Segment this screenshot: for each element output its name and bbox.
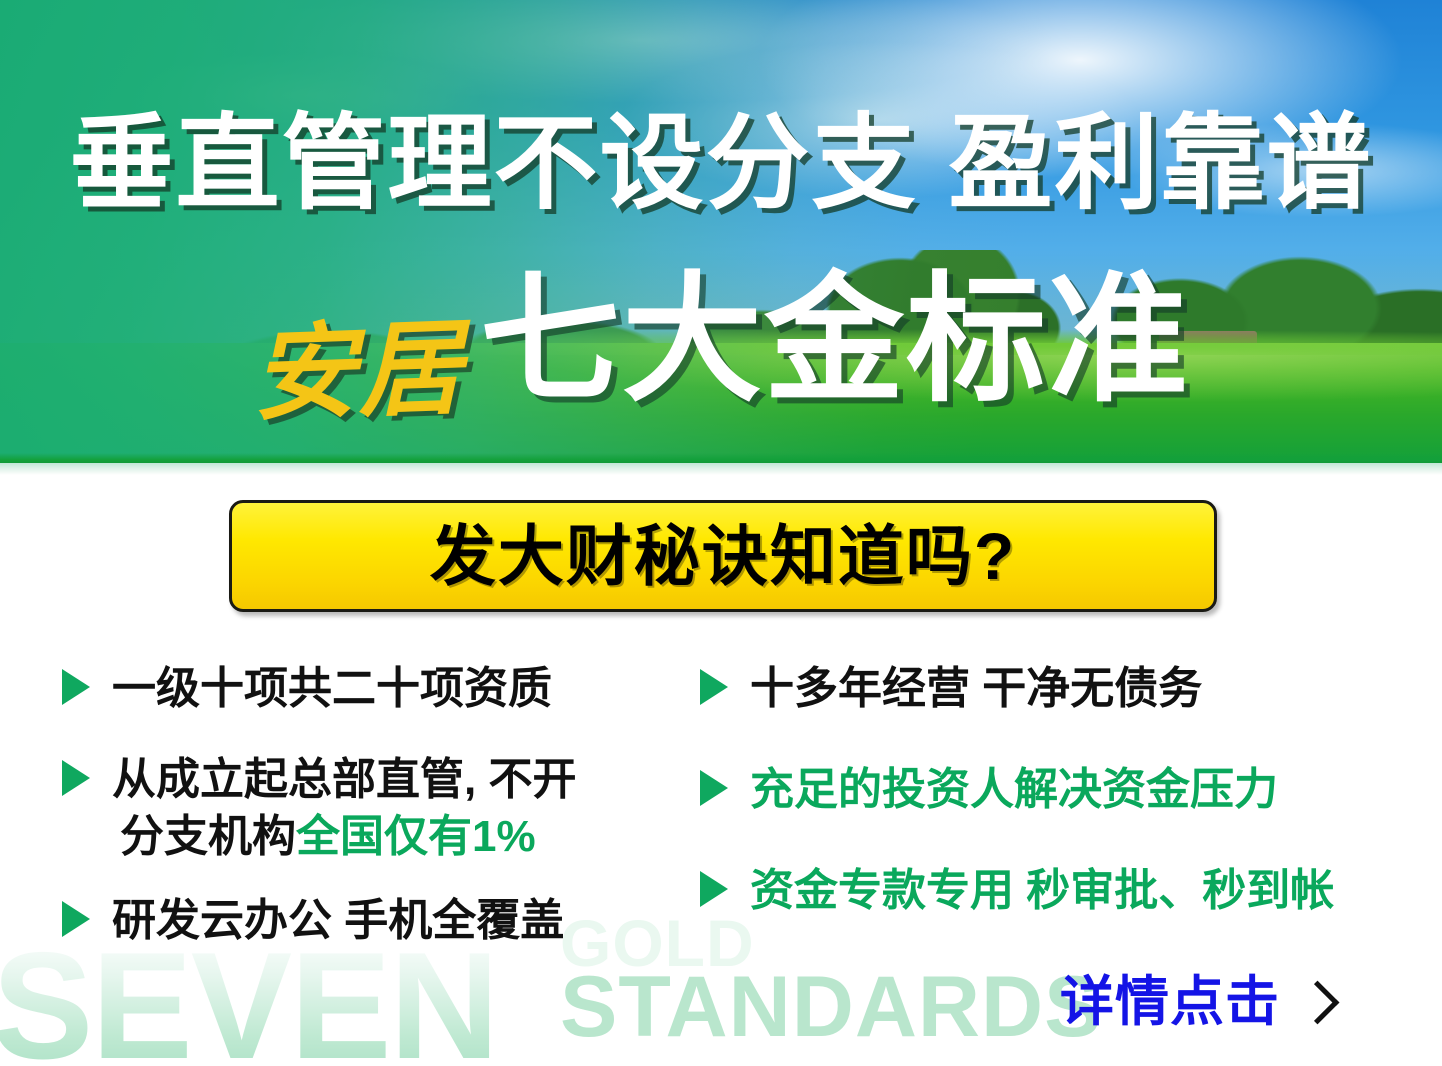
list-item: 充足的投资人解决资金压力	[700, 761, 1400, 818]
hero-subheadline-row: 安居 七大金标准	[0, 270, 1442, 410]
hero-divider-strip	[0, 463, 1442, 475]
list-item: 十多年经营 干净无债务	[700, 660, 1400, 717]
advertisement-banner: 垂直管理不设分支 盈利靠谱 安居 七大金标准 发大财秘诀知道吗? 一级十项共二十…	[0, 0, 1442, 1066]
feature-text-line2: 分支机构全国仅有1%	[120, 808, 576, 865]
hero-headline: 垂直管理不设分支 盈利靠谱	[0, 112, 1442, 216]
triangle-bullet-icon	[700, 871, 728, 907]
feature-text: 研发云办公 手机全覆盖	[112, 892, 564, 949]
list-item: 研发云办公 手机全覆盖	[62, 892, 702, 949]
list-item: 资金专款专用 秒审批、秒到帐	[700, 862, 1400, 919]
triangle-bullet-icon	[700, 770, 728, 806]
feature-text: 充足的投资人解决资金压力	[750, 761, 1278, 818]
feature-text-multiline: 从成立起总部直管, 不开 分支机构全国仅有1%	[112, 751, 576, 865]
feature-text-highlight: 全国仅有1%	[296, 812, 536, 861]
brand-name: 安居	[250, 316, 466, 427]
triangle-bullet-icon	[62, 669, 90, 705]
feature-text: 十多年经营 干净无债务	[750, 660, 1202, 717]
hero-bottom-band	[0, 453, 1442, 463]
triangle-bullet-icon	[62, 760, 90, 796]
highlight-banner-text: 发大财秘诀知道吗?	[430, 523, 1016, 589]
feature-text-line2-prefix: 分支机构	[120, 812, 296, 861]
feature-columns: 一级十项共二十项资质 从成立起总部直管, 不开 分支机构全国仅有1% 研发云办公…	[0, 660, 1442, 990]
highlight-banner[interactable]: 发大财秘诀知道吗?	[229, 500, 1217, 612]
details-cta-button[interactable]: 详情点击	[1060, 975, 1333, 1029]
feature-text-line1: 从成立起总部直管, 不开	[112, 755, 576, 804]
chevron-right-icon	[1296, 980, 1340, 1024]
triangle-bullet-icon	[62, 901, 90, 937]
hero-subheadline: 七大金标准	[480, 270, 1190, 410]
feature-column-left: 一级十项共二十项资质 从成立起总部直管, 不开 分支机构全国仅有1% 研发云办公…	[62, 660, 702, 983]
feature-text: 一级十项共二十项资质	[112, 660, 552, 717]
triangle-bullet-icon	[700, 669, 728, 705]
feature-column-right: 十多年经营 干净无债务 充足的投资人解决资金压力 资金专款专用 秒审批、秒到帐	[700, 660, 1400, 954]
list-item: 从成立起总部直管, 不开 分支机构全国仅有1%	[62, 751, 702, 865]
list-item: 一级十项共二十项资质	[62, 660, 702, 717]
details-cta-label: 详情点击	[1060, 975, 1280, 1029]
hero-section: 垂直管理不设分支 盈利靠谱 安居 七大金标准	[0, 0, 1442, 463]
feature-text: 资金专款专用 秒审批、秒到帐	[750, 862, 1334, 919]
